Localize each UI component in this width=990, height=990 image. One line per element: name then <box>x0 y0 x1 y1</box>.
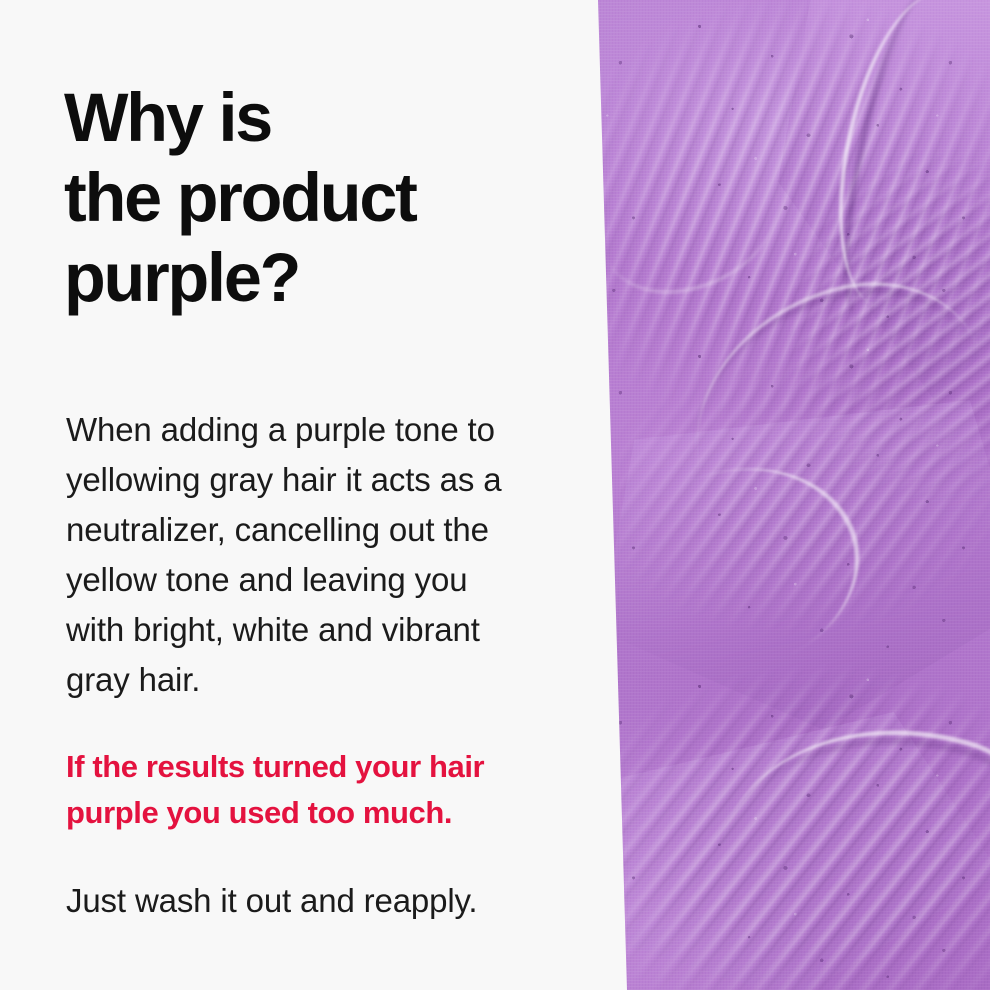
closing-paragraph: Just wash it out and reapply. <box>66 878 586 924</box>
infographic-root: Why is the product purple? When adding a… <box>0 0 990 990</box>
text-panel: Why is the product purple? When adding a… <box>0 0 600 990</box>
body-paragraph: When adding a purple tone to yellowing g… <box>66 405 586 705</box>
warning-paragraph: If the results turned your hair purple y… <box>66 744 586 836</box>
page-title: Why is the product purple? <box>64 78 579 318</box>
